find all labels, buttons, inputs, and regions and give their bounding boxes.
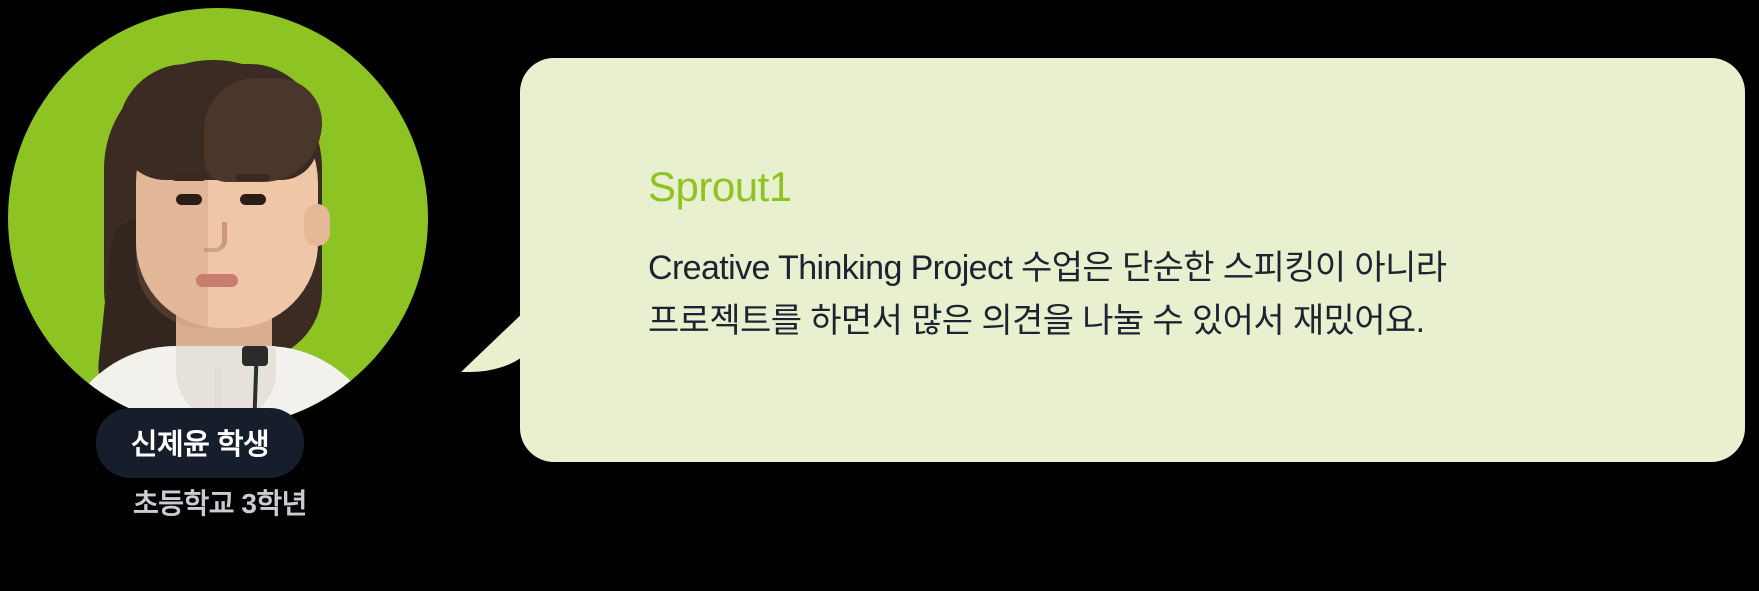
program-title: Sprout1: [648, 166, 1745, 208]
student-profile-column: 신제윤 학생 초등학교 3학년: [0, 0, 460, 591]
portrait-eyebrow-left: [172, 174, 206, 181]
testimonial-quote: Creative Thinking Project 수업은 단순한 스피킹이 아…: [648, 242, 1648, 347]
quote-line: 프로젝트를 하면서 많은 의견을 나눌 수 있어서 재밌어요.: [648, 295, 1648, 348]
student-grade-caption: 초등학교 3학년: [0, 482, 440, 522]
portrait-eye-left: [176, 194, 202, 205]
portrait-mouth: [196, 274, 238, 287]
quote-line: Creative Thinking Project 수업은 단순한 스피킹이 아…: [648, 242, 1648, 295]
portrait-eye-right: [240, 194, 266, 205]
avatar: [8, 8, 428, 428]
portrait-nose: [204, 222, 227, 252]
lapel-microphone-icon: [242, 346, 268, 366]
portrait-eyebrow-right: [236, 174, 270, 181]
testimonial-speech-bubble: Sprout1 Creative Thinking Project 수업은 단순…: [455, 58, 1745, 462]
portrait-ear: [304, 204, 330, 246]
student-portrait-image: [8, 8, 428, 428]
student-name-badge: 신제윤 학생: [96, 408, 304, 478]
speech-bubble-body: Sprout1 Creative Thinking Project 수업은 단순…: [520, 58, 1745, 462]
